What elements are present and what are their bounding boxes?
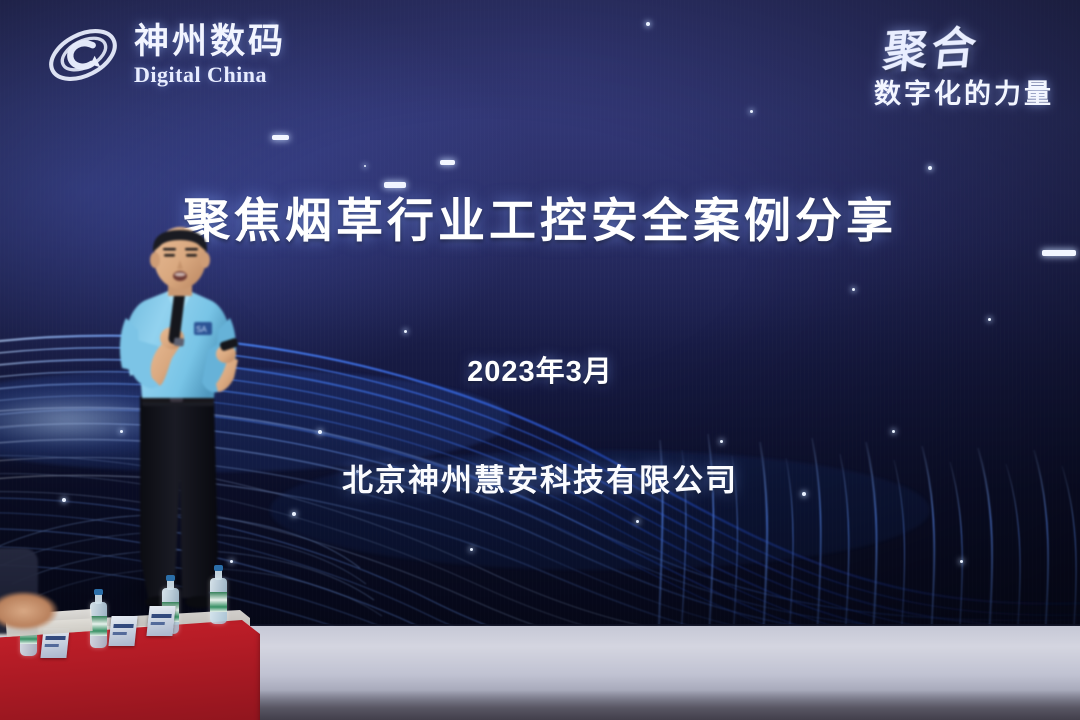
slogan-calligraphy: 聚合 bbox=[880, 12, 983, 81]
event-slogan: 聚合 数字化的力量 bbox=[874, 14, 1054, 111]
particle-dot bbox=[364, 165, 366, 167]
svg-text:SA: SA bbox=[196, 325, 207, 334]
particle-dot bbox=[404, 330, 407, 333]
speaker: SA bbox=[96, 226, 266, 626]
particle-dot bbox=[852, 288, 855, 291]
particle-dot bbox=[292, 512, 296, 516]
particle-dot bbox=[750, 110, 753, 113]
particle-dot bbox=[988, 318, 991, 321]
particle-dash bbox=[272, 135, 289, 140]
conference-photo: 神州数码 Digital China 聚合 数字化的力量 聚焦烟草行业工控安全案… bbox=[0, 0, 1080, 720]
polo-chest-logo: SA bbox=[194, 322, 212, 335]
particle-dot bbox=[892, 430, 895, 433]
water-bottle bbox=[90, 590, 107, 648]
particle-dot bbox=[960, 560, 963, 563]
attendee-hands bbox=[0, 588, 68, 634]
digital-china-swirl-logo bbox=[44, 18, 122, 92]
particle-dot bbox=[318, 430, 322, 434]
particle-dot bbox=[928, 166, 932, 170]
water-bottle bbox=[210, 566, 227, 624]
particle-dot bbox=[720, 440, 723, 443]
particle-dot bbox=[470, 548, 473, 551]
digital-china-logo: 神州数码 Digital China bbox=[44, 18, 286, 92]
name-card bbox=[146, 606, 175, 636]
name-card bbox=[108, 616, 137, 646]
logo-english-name: Digital China bbox=[134, 64, 286, 86]
particle-dash bbox=[440, 160, 455, 165]
logo-chinese-name: 神州数码 bbox=[134, 24, 286, 59]
particle-dot bbox=[636, 520, 639, 523]
particle-dot bbox=[646, 22, 650, 26]
